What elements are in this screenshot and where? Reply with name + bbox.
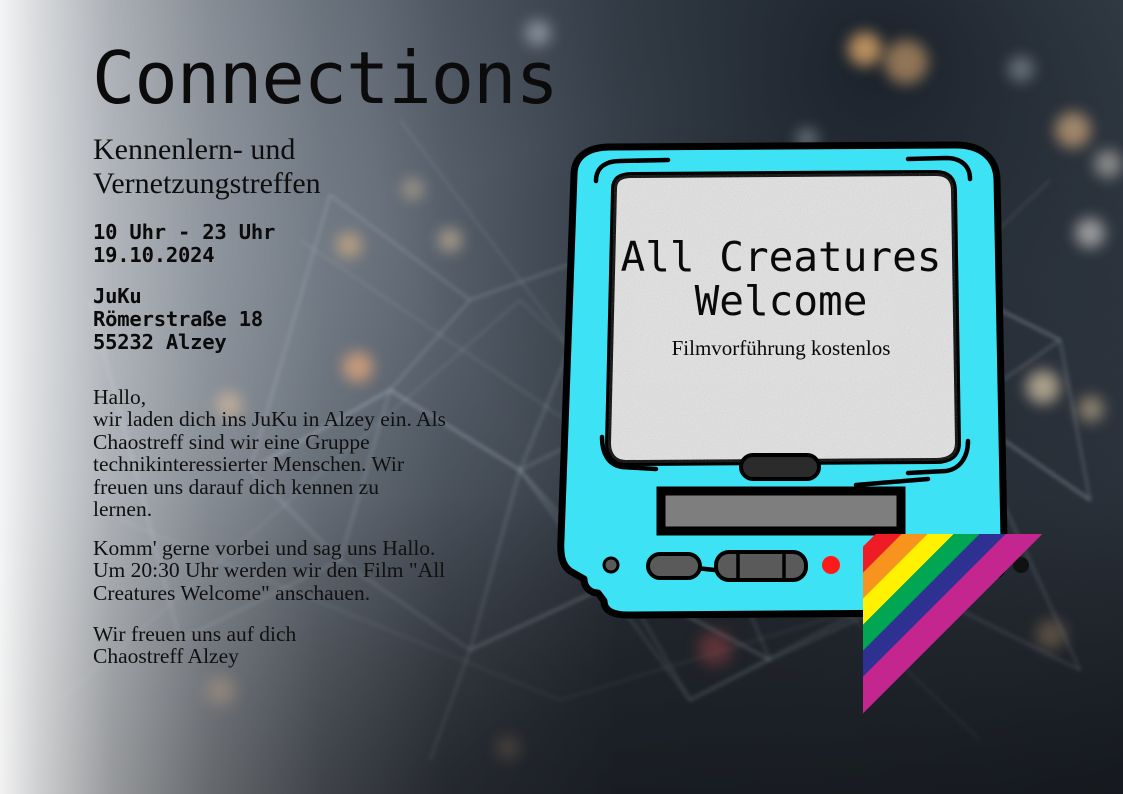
tv-button-round: [648, 554, 700, 578]
tv-speaker-grille: [661, 491, 901, 531]
tv-slider-rocker: [716, 552, 806, 580]
tv-control-dot-small: [604, 558, 618, 572]
rainbow-corner: [863, 534, 1123, 794]
poster-canvas: Connections Kennenlern- und Vernetzungst…: [0, 0, 1123, 794]
paragraph-invite: Komm' gerne vorbei und sag uns Hallo. Um…: [93, 537, 493, 604]
poster-subtitle: Kennenlern- und Vernetzungstreffen: [93, 133, 321, 200]
page-title: Connections: [92, 42, 558, 114]
tv-badge-pill: [741, 455, 819, 479]
event-venue-address: JuKu Römerstraße 18 55232 Alzey: [93, 285, 263, 354]
event-time: 10 Uhr - 23 Uhr 19.10.2024: [93, 221, 275, 267]
paragraph-intro: Hallo, wir laden dich ins JuKu in Alzey …: [93, 386, 493, 521]
paragraph-signoff: Wir freuen uns auf dich Chaostreff Alzey: [93, 623, 493, 668]
tv-power-led: [822, 556, 840, 574]
tv-screen-noise: [596, 161, 976, 481]
